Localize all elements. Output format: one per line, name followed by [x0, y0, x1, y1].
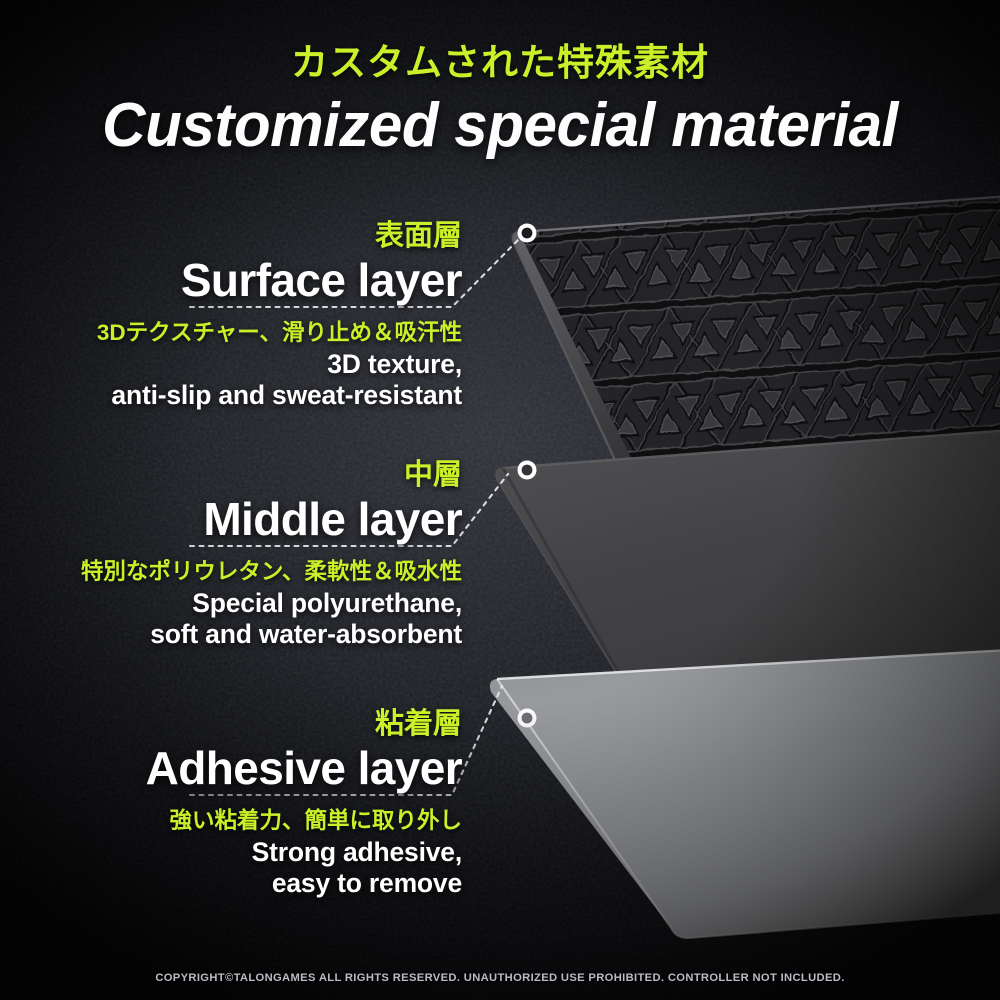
- adhesive-layer-japanese-description: 強い粘着力、簡単に取り外し: [0, 808, 462, 834]
- middle-layer-japanese-description: 特別なポリウレタン、柔軟性＆吸水性: [0, 559, 462, 585]
- callout-middle-layer: 中層 Middle layer 特別なポリウレタン、柔軟性＆吸水性 Specia…: [0, 461, 462, 651]
- header-japanese-title: カスタムされた特殊素材: [0, 44, 1000, 81]
- adhesive-layer-panel: [490, 650, 1000, 938]
- middle-layer-english-description-line2: soft and water-absorbent: [0, 619, 462, 651]
- adhesive-layer-english-label: Adhesive layer: [0, 744, 462, 793]
- callout-dot-marker-adhesive: [518, 709, 537, 728]
- adhesive-layer-english-description-line1: Strong adhesive,: [0, 837, 462, 869]
- header-english-title: Customized special material: [15, 95, 985, 157]
- surface-layer-english-description-line2: anti-slip and sweat-resistant: [0, 380, 462, 412]
- surface-layer-english-label: Surface layer: [0, 256, 462, 305]
- middle-layer-japanese-label: 中層: [0, 461, 462, 490]
- surface-layer-english-description-line1: 3D texture,: [0, 349, 462, 381]
- header: カスタムされた特殊素材 Customized special material: [0, 0, 1000, 157]
- callout-dot-marker-middle: [518, 461, 537, 480]
- adhesive-layer-english-description-line2: easy to remove: [0, 868, 462, 900]
- surface-layer-japanese-description: 3Dテクスチャー、滑り止め＆吸汗性: [0, 320, 462, 346]
- surface-layer-japanese-label: 表面層: [0, 222, 462, 251]
- copyright-footer: COPYRIGHT©TALONGAMES ALL RIGHTS RESERVED…: [0, 972, 1000, 984]
- middle-layer-english-label: Middle layer: [0, 495, 462, 544]
- adhesive-layer-japanese-label: 粘着層: [0, 710, 462, 739]
- middle-layer-english-description-line1: Special polyurethane,: [0, 588, 462, 620]
- marker-dots: [518, 224, 537, 728]
- callout-dot-marker-surface: [518, 224, 537, 243]
- callout-adhesive-layer: 粘着層 Adhesive layer 強い粘着力、簡単に取り外し Strong …: [0, 710, 462, 900]
- infographic-canvas: カスタムされた特殊素材 Customized special material …: [0, 0, 1000, 1000]
- callout-surface-layer: 表面層 Surface layer 3Dテクスチャー、滑り止め＆吸汗性 3D t…: [0, 222, 462, 412]
